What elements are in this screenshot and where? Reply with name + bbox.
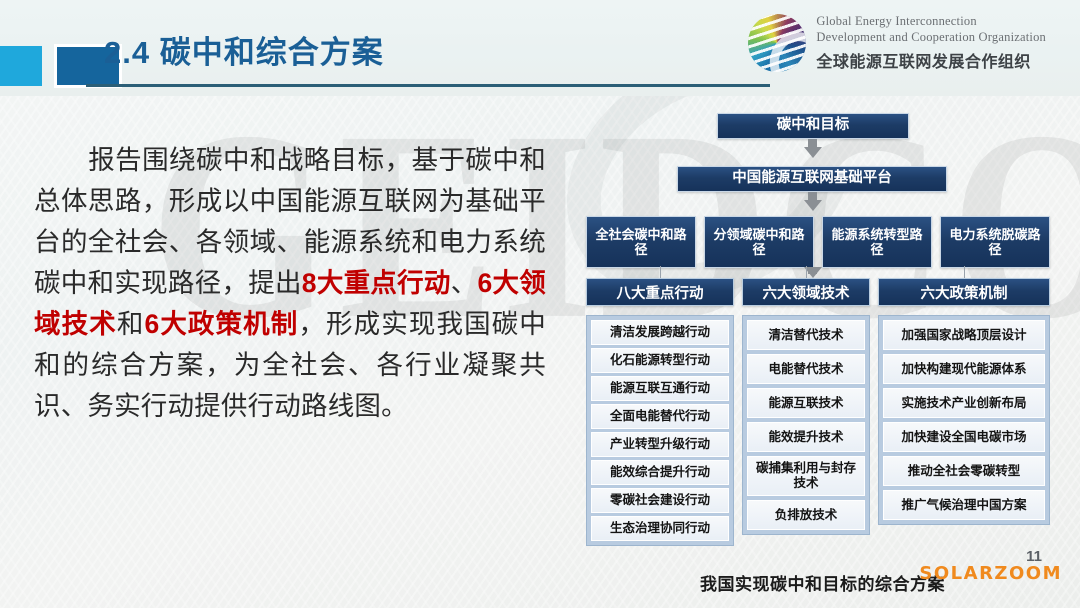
- header-accent-square-light: [0, 46, 42, 86]
- action-item-4: 产业转型升级行动: [591, 432, 729, 457]
- policy-item-3: 加快建设全国电碳市场: [883, 422, 1045, 452]
- globe-icon: [748, 14, 806, 72]
- column-connector-policies: [964, 266, 965, 278]
- body-highlight-6-policies: 6大政策机制: [144, 309, 298, 339]
- column-connector-actions: [660, 266, 661, 278]
- action-item-3: 全面电能替代行动: [591, 404, 729, 429]
- technology-item-2: 能源互联技术: [747, 388, 865, 418]
- body-highlight-8-actions: 8大重点行动: [302, 268, 451, 298]
- technology-item-4: 碳捕集利用与封存技术: [747, 456, 865, 496]
- column-body-technologies: 清洁替代技术 电能替代技术 能源互联技术 能效提升技术 碳捕集利用与封存技术 负…: [742, 315, 870, 535]
- diagram-column-actions: 八大重点行动 清洁发展跨越行动 化石能源转型行动 能源互联互通行动 全面电能替代…: [586, 278, 734, 556]
- logo-chinese-name: 全球能源互联网发展合作组织: [816, 48, 1046, 72]
- logo-text-group: Global Energy Interconnection Developmen…: [816, 14, 1046, 72]
- policy-item-2: 实施技术产业创新布局: [883, 388, 1045, 418]
- arrow-platform-to-paths: [804, 200, 822, 211]
- page-title: 2.4 碳中和综合方案: [104, 27, 384, 72]
- title-underline-rule: [86, 84, 770, 87]
- diagram-columns: 八大重点行动 清洁发展跨越行动 化石能源转型行动 能源互联互通行动 全面电能替代…: [586, 278, 1050, 556]
- technology-item-5: 负排放技术: [747, 500, 865, 530]
- body-text-separator2: 和: [117, 309, 145, 339]
- logo-english-line1: Global Energy Interconnection: [816, 14, 1046, 30]
- logo-english-line2: Development and Cooperation Organization: [816, 30, 1046, 46]
- technology-item-3: 能效提升技术: [747, 422, 865, 452]
- body-paragraph: 报告围绕碳中和战略目标，基于碳中和总体思路，形成以中国能源互联网为基础平台的全社…: [34, 140, 546, 427]
- slide-canvas: GEIDCO 2.4 碳中和综合方案 Global Energy Interco…: [0, 0, 1080, 608]
- column-connector-technologies: [806, 266, 807, 278]
- arrow-goal-to-platform: [804, 147, 822, 158]
- policy-item-5: 推广气候治理中国方案: [883, 490, 1045, 520]
- diagram-box-platform: 中国能源互联网基础平台: [677, 166, 947, 192]
- organization-logo: Global Energy Interconnection Developmen…: [748, 14, 1046, 72]
- action-item-5: 能效综合提升行动: [591, 460, 729, 485]
- column-header-6-technologies: 六大领域技术: [742, 278, 870, 306]
- diagram-path-1: 分领域碳中和路径: [704, 216, 814, 268]
- diagram-path-0: 全社会碳中和路径: [586, 216, 696, 268]
- action-item-0: 清洁发展跨越行动: [591, 320, 729, 345]
- action-item-2: 能源互联互通行动: [591, 376, 729, 401]
- diagram-caption: 我国实现碳中和目标的综合方案: [700, 570, 945, 595]
- diagram-path-2: 能源系统转型路径: [822, 216, 932, 268]
- diagram-path-3: 电力系统脱碳路径: [940, 216, 1050, 268]
- diagram-column-technologies: 六大领域技术 清洁替代技术 电能替代技术 能源互联技术 能效提升技术 碳捕集利用…: [742, 278, 870, 556]
- column-body-policies: 加强国家战略顶层设计 加快构建现代能源体系 实施技术产业创新布局 加快建设全国电…: [878, 315, 1050, 525]
- solarzoom-watermark: SOLARZOOM: [919, 563, 1062, 584]
- technology-item-0: 清洁替代技术: [747, 320, 865, 350]
- action-item-7: 生态治理协同行动: [591, 516, 729, 541]
- diagram-box-carbon-goal: 碳中和目标: [717, 113, 909, 139]
- body-text-separator1: 、: [451, 268, 478, 298]
- carbon-neutrality-diagram: 碳中和目标 中国能源互联网基础平台 全社会碳中和路径 分领域碳中和路径 能源系统…: [586, 108, 1050, 556]
- action-item-6: 零碳社会建设行动: [591, 488, 729, 513]
- action-item-1: 化石能源转型行动: [591, 348, 729, 373]
- column-header-8-actions: 八大重点行动: [586, 278, 734, 306]
- column-header-6-policies: 六大政策机制: [878, 278, 1050, 306]
- policy-item-4: 推动全社会零碳转型: [883, 456, 1045, 486]
- technology-item-1: 电能替代技术: [747, 354, 865, 384]
- slide-header: 2.4 碳中和综合方案 Global Energy Interconnectio…: [0, 0, 1080, 96]
- diagram-column-policies: 六大政策机制 加强国家战略顶层设计 加快构建现代能源体系 实施技术产业创新布局 …: [878, 278, 1050, 556]
- policy-item-1: 加快构建现代能源体系: [883, 354, 1045, 384]
- column-body-actions: 清洁发展跨越行动 化石能源转型行动 能源互联互通行动 全面电能替代行动 产业转型…: [586, 315, 734, 546]
- policy-item-0: 加强国家战略顶层设计: [883, 320, 1045, 350]
- diagram-paths-row: 全社会碳中和路径 分领域碳中和路径 能源系统转型路径 电力系统脱碳路径: [586, 216, 1050, 268]
